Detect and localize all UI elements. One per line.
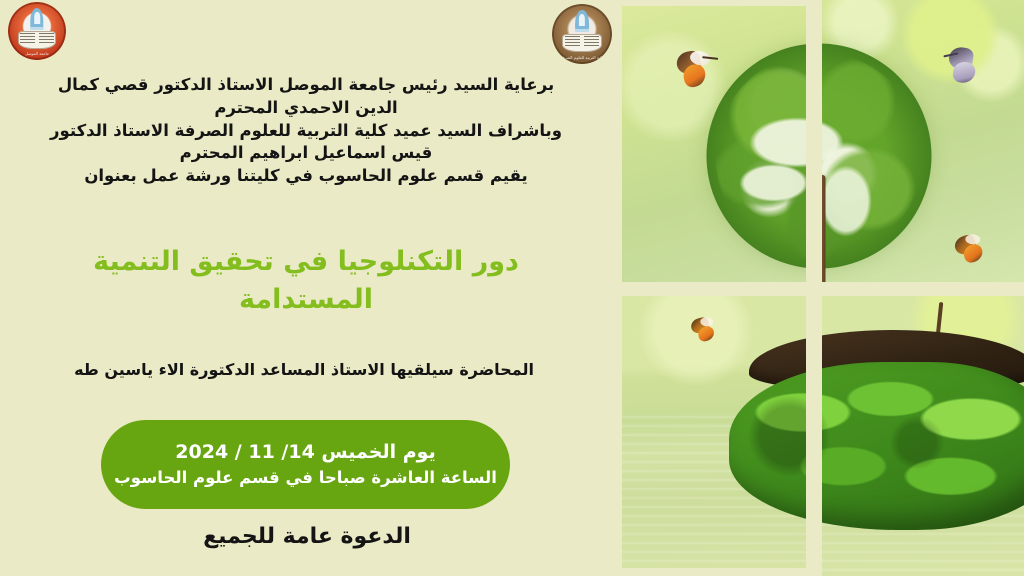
text-column: جامعة الموصل كلية التربية للعلوم الصرفة … <box>0 0 614 576</box>
badge-date-text: يوم الخميس 14/ 11 / 2024 <box>175 441 435 465</box>
patronage-line-3: وباشراف السيد عميد كلية التربية للعلوم ا… <box>40 120 572 143</box>
patronage-block: برعاية السيد رئيس جامعة الموصل الاستاذ ا… <box>40 74 572 188</box>
panel-gutter-horizontal <box>614 282 1024 296</box>
invitation-text: الدعوة عامة للجميع <box>0 524 614 549</box>
university-logo-ring-text: جامعة الموصل <box>8 51 66 56</box>
poster-canvas: جامعة الموصل كلية التربية للعلوم الصرفة … <box>0 0 1024 576</box>
logo-emblem <box>562 10 603 53</box>
cupped-hands <box>729 330 1024 530</box>
college-logo-ring-text: كلية التربية للعلوم الصرفة <box>552 55 612 60</box>
lecturer-line: المحاضرة سيلقيها الاستاذ المساعد الدكتور… <box>34 360 574 379</box>
college-of-education-logo-icon: كلية التربية للعلوم الصرفة <box>552 4 612 64</box>
patronage-line-2: الدين الاحمدي المحترم <box>40 97 572 120</box>
open-book-icon <box>562 34 601 52</box>
minaret-icon <box>30 8 43 30</box>
image-column <box>614 0 1024 576</box>
panel-gutter-bottom-left <box>614 568 814 576</box>
badge-time-text: الساعة العاشرة صباحا في قسم علوم الحاسوب <box>114 468 497 489</box>
panel-gutter-top-left <box>614 0 814 6</box>
date-time-badge: يوم الخميس 14/ 11 / 2024 الساعة العاشرة … <box>101 420 510 509</box>
moss-covering <box>729 362 1024 530</box>
workshop-title-line-2: المستدامة <box>239 284 373 315</box>
workshop-title-line-1: دور التكنلوجيا في تحقيق التنمية <box>93 246 519 277</box>
panel-gutter-left <box>614 0 622 576</box>
workshop-title: دور التكنلوجيا في تحقيق التنمية المستدام… <box>40 243 572 320</box>
patronage-line-5: يقيم قسم علوم الحاسوب في كليتنا ورشة عمل… <box>40 165 572 188</box>
logo-emblem <box>17 8 56 50</box>
patronage-line-1: برعاية السيد رئيس جامعة الموصل الاستاذ ا… <box>40 74 572 97</box>
butterfly-pale-icon <box>941 43 988 88</box>
minaret-icon <box>575 10 589 32</box>
patronage-line-4: قيس اسماعيل ابراهيم المحترم <box>40 142 572 165</box>
open-book-icon <box>18 31 56 49</box>
butterfly-orange-icon <box>672 44 721 92</box>
university-of-mosul-logo-icon: جامعة الموصل <box>8 2 66 60</box>
